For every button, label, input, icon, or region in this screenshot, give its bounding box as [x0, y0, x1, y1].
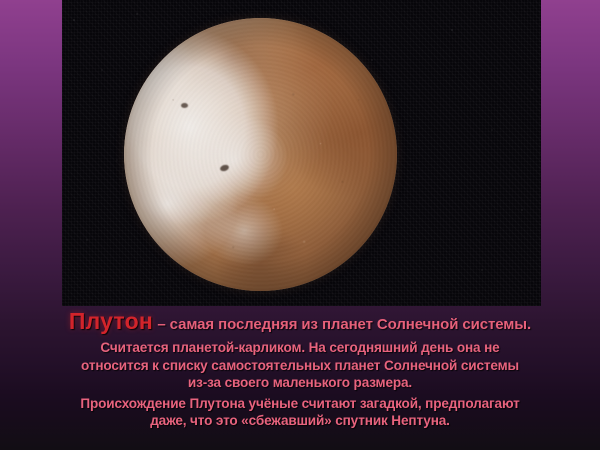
planet-terminator-shading: [124, 18, 397, 291]
pluto-image: [62, 0, 541, 306]
presentation-slide: Плутон – самая последняя из планет Солне…: [0, 0, 600, 450]
caption-text-line: даже, что это «сбежавший» спутник Нептун…: [6, 412, 594, 430]
page-title: Плутон: [69, 308, 153, 334]
pluto-planet-disc: [124, 18, 397, 291]
headline-tail-text: – самая последняя из планет Солнечной си…: [157, 316, 531, 333]
caption-paragraph-2: Происхождение Плутона учёные считают заг…: [6, 395, 594, 430]
caption-text-line: Считается планетой-карликом. На сегодняш…: [6, 339, 594, 357]
caption-headline: Плутон – самая последняя из планет Солне…: [6, 308, 594, 338]
caption-text-line: Происхождение Плутона учёные считают заг…: [6, 395, 594, 413]
caption-text-line: из-за своего маленького размера.: [6, 374, 594, 392]
caption-paragraph-1: Считается планетой-карликом. На сегодняш…: [6, 339, 594, 392]
slide-caption: Плутон – самая последняя из планет Солне…: [0, 308, 600, 430]
caption-text-line: относится к списку самостоятельных плане…: [6, 357, 594, 375]
